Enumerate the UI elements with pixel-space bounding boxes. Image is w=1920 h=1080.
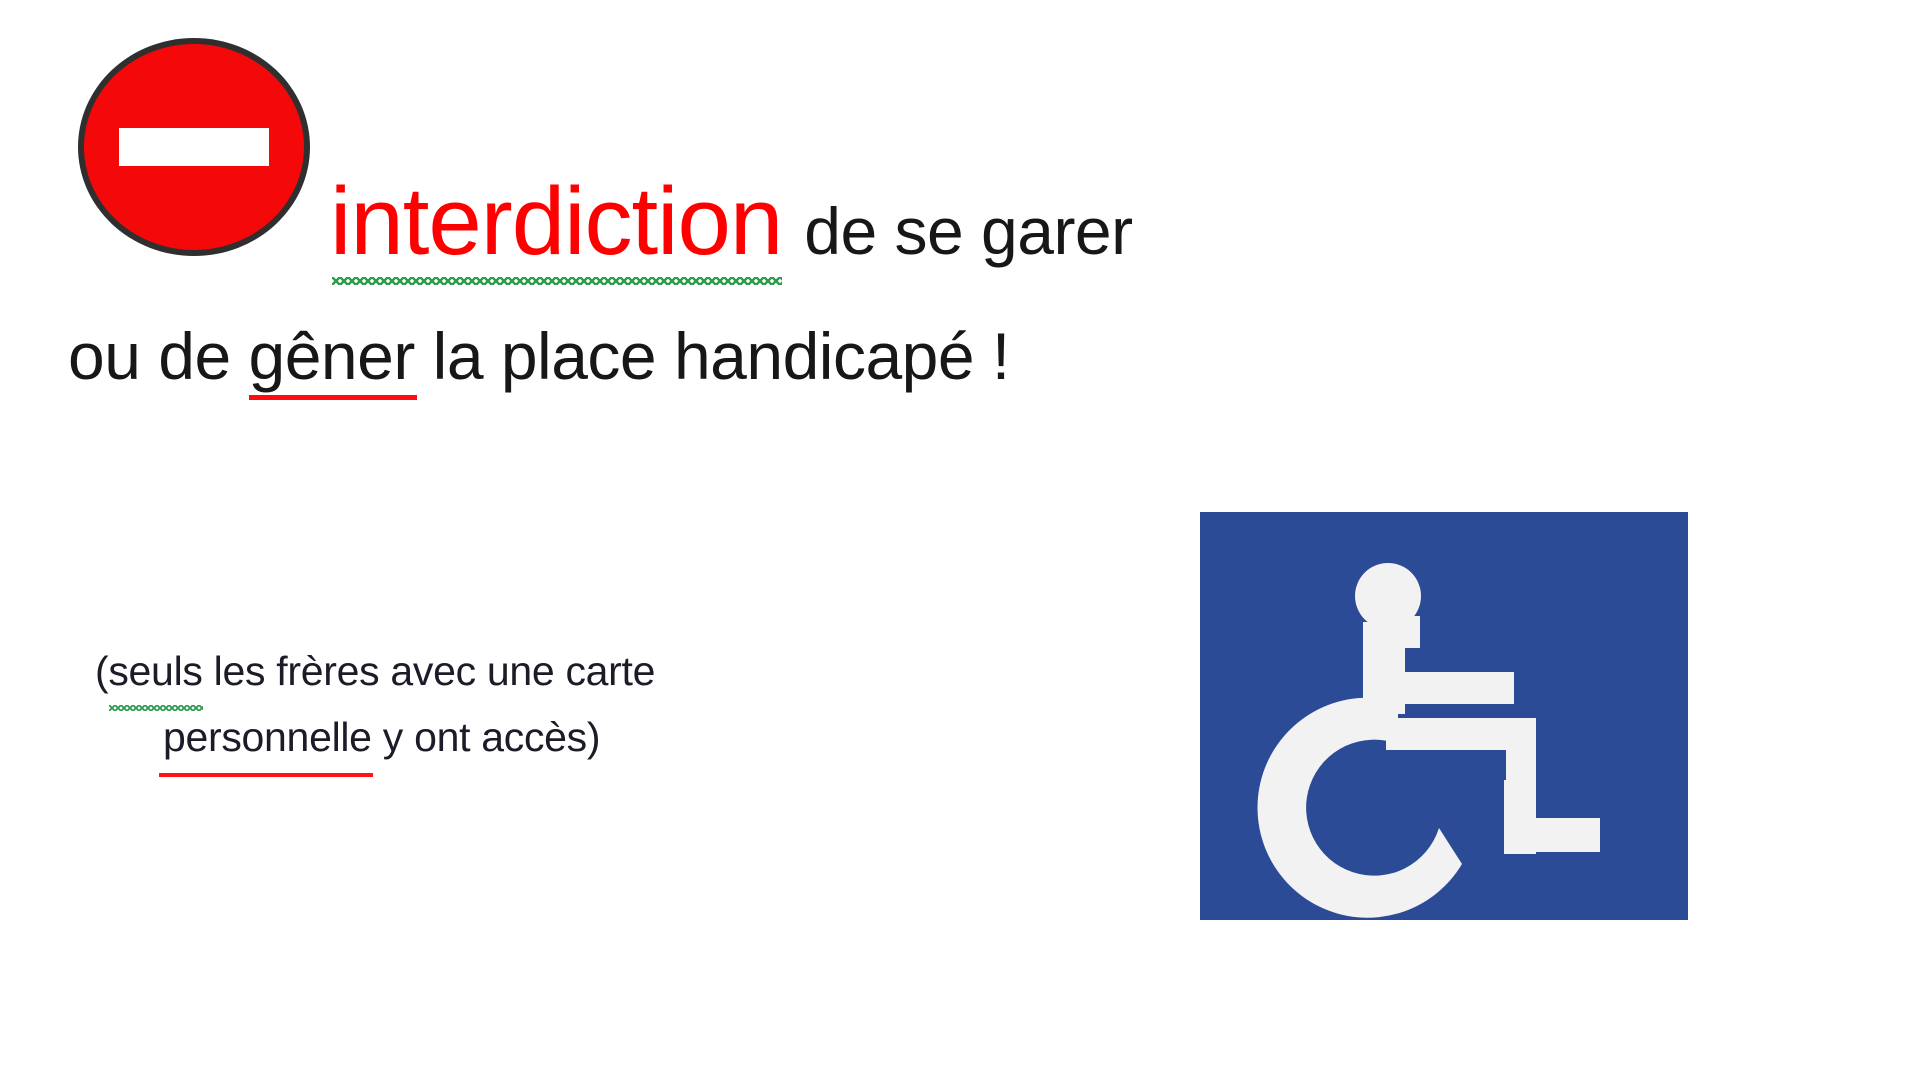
headline-emphasis-text: interdiction: [330, 168, 782, 275]
note-line-1: (seuls les frères avec une carte: [95, 638, 935, 704]
no-entry-icon: [78, 38, 310, 256]
headline-line-2-before: ou de: [68, 319, 249, 393]
note-block: (seuls les frères avec une carte personn…: [95, 638, 935, 771]
headline-underlined-word: gêner: [249, 322, 415, 391]
slide-canvas: interdiction de se garer ou de gêner la …: [0, 0, 1920, 1080]
headline-emphasis-word: interdiction: [330, 172, 782, 273]
note-spellchecked-word: seuls: [108, 638, 202, 704]
spellcheck-underline-red: [249, 395, 417, 400]
note-underlined-text: personnelle: [163, 714, 372, 760]
note-line-2: personnelle y ont accès): [95, 704, 935, 770]
spellcheck-squiggle-green: [332, 277, 782, 285]
wheelchair-accessible-icon: [1200, 512, 1688, 920]
headline-line-1: interdiction de se garer: [330, 172, 1133, 273]
note-spellchecked-text: seuls: [108, 648, 202, 694]
note-line-1-after: les frères avec une carte: [203, 648, 656, 694]
note-open-paren: (: [95, 648, 108, 694]
note-underlined-word: personnelle: [163, 704, 372, 770]
headline-underlined-text: gêner: [249, 319, 415, 393]
no-entry-bar: [119, 128, 269, 166]
spellcheck-underline-red-small: [159, 773, 373, 777]
note-line-2-after: y ont accès): [372, 714, 601, 760]
headline-line-2: ou de gêner la place handicapé !: [68, 322, 1010, 391]
wheelchair-symbol: [1200, 512, 1688, 920]
headline-line-2-after: la place handicapé !: [415, 319, 1010, 393]
headline-line-1-rest: de se garer: [782, 197, 1132, 266]
